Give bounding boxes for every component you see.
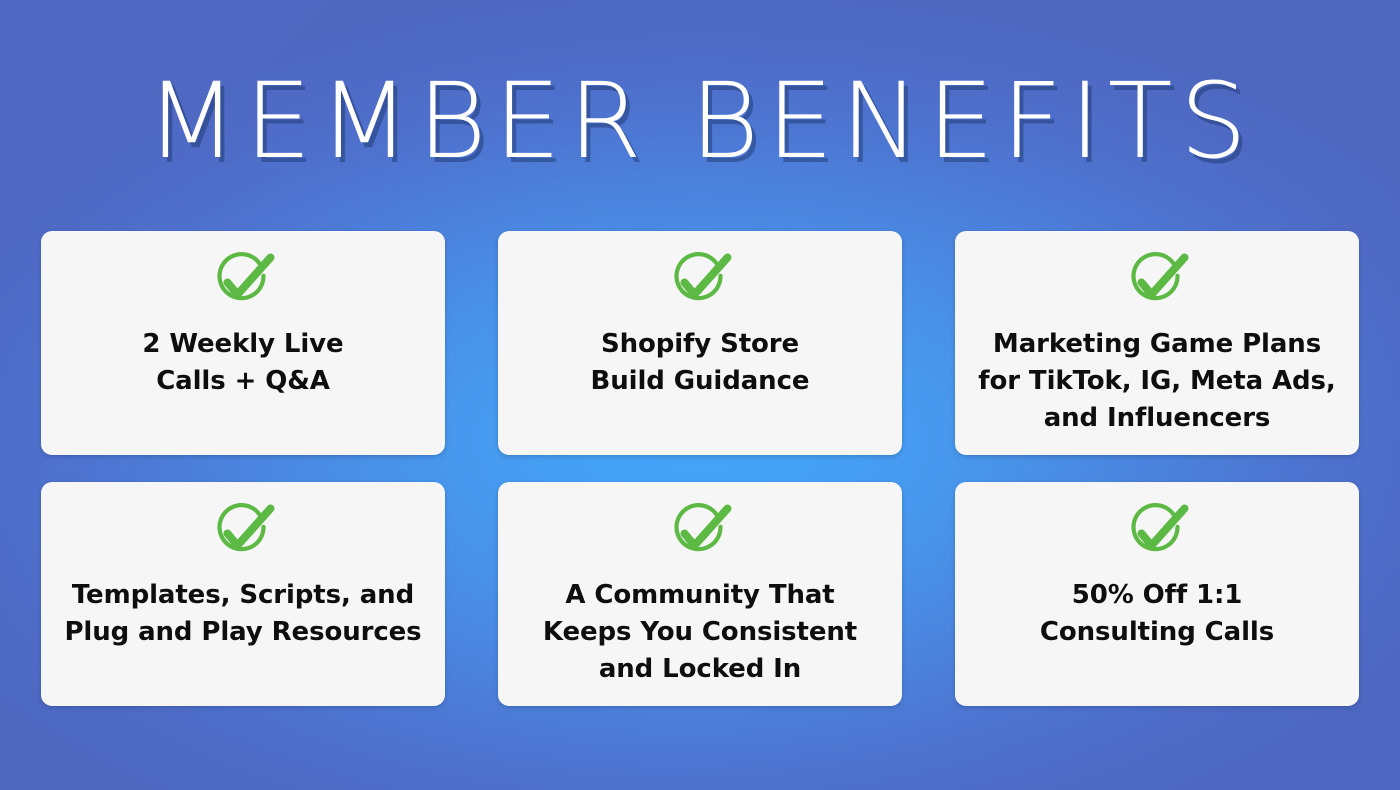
benefit-card[interactable]: 2 Weekly Live Calls + Q&A	[41, 231, 445, 455]
benefit-text: 50% Off 1:1 Consulting Calls	[955, 577, 1359, 651]
benefit-text-line: and Locked In	[510, 651, 890, 688]
benefit-text-line: and Influencers	[967, 400, 1347, 437]
benefit-text: A Community That Keeps You Consistent an…	[498, 577, 902, 688]
benefit-text: Templates, Scripts, and Plug and Play Re…	[41, 577, 445, 651]
check-circle-icon	[666, 501, 734, 563]
benefit-text-line: 50% Off 1:1	[967, 577, 1347, 614]
check-circle-icon	[209, 501, 277, 563]
slide-stage: MEMBER BENEFITS 2 Weekly Live Calls + Q&…	[0, 0, 1400, 790]
benefit-text-line: Calls + Q&A	[53, 363, 433, 400]
benefit-text-line: Consulting Calls	[967, 614, 1347, 651]
check-circle-icon	[666, 250, 734, 312]
benefit-text-line: Templates, Scripts, and	[53, 577, 433, 614]
benefit-card[interactable]: 50% Off 1:1 Consulting Calls	[955, 482, 1359, 706]
benefit-card[interactable]: Templates, Scripts, and Plug and Play Re…	[41, 482, 445, 706]
benefit-text-line: Keeps You Consistent	[510, 614, 890, 651]
benefit-text-line: for TikTok, IG, Meta Ads,	[967, 363, 1347, 400]
benefit-text-line: Build Guidance	[510, 363, 890, 400]
benefit-text: Marketing Game Plans for TikTok, IG, Met…	[955, 326, 1359, 437]
benefit-text-line: Shopify Store	[510, 326, 890, 363]
benefit-text: Shopify Store Build Guidance	[498, 326, 902, 400]
benefit-card[interactable]: A Community That Keeps You Consistent an…	[498, 482, 902, 706]
benefits-grid: 2 Weekly Live Calls + Q&A Shopify Store …	[41, 231, 1359, 706]
benefit-text: 2 Weekly Live Calls + Q&A	[41, 326, 445, 400]
benefit-card[interactable]: Marketing Game Plans for TikTok, IG, Met…	[955, 231, 1359, 455]
check-circle-icon	[1123, 250, 1191, 312]
benefit-text-line: A Community That	[510, 577, 890, 614]
page-title: MEMBER BENEFITS	[0, 62, 1400, 180]
benefit-text-line: 2 Weekly Live	[53, 326, 433, 363]
benefit-card[interactable]: Shopify Store Build Guidance	[498, 231, 902, 455]
benefit-text-line: Marketing Game Plans	[967, 326, 1347, 363]
check-circle-icon	[209, 250, 277, 312]
benefit-text-line: Plug and Play Resources	[53, 614, 433, 651]
check-circle-icon	[1123, 501, 1191, 563]
